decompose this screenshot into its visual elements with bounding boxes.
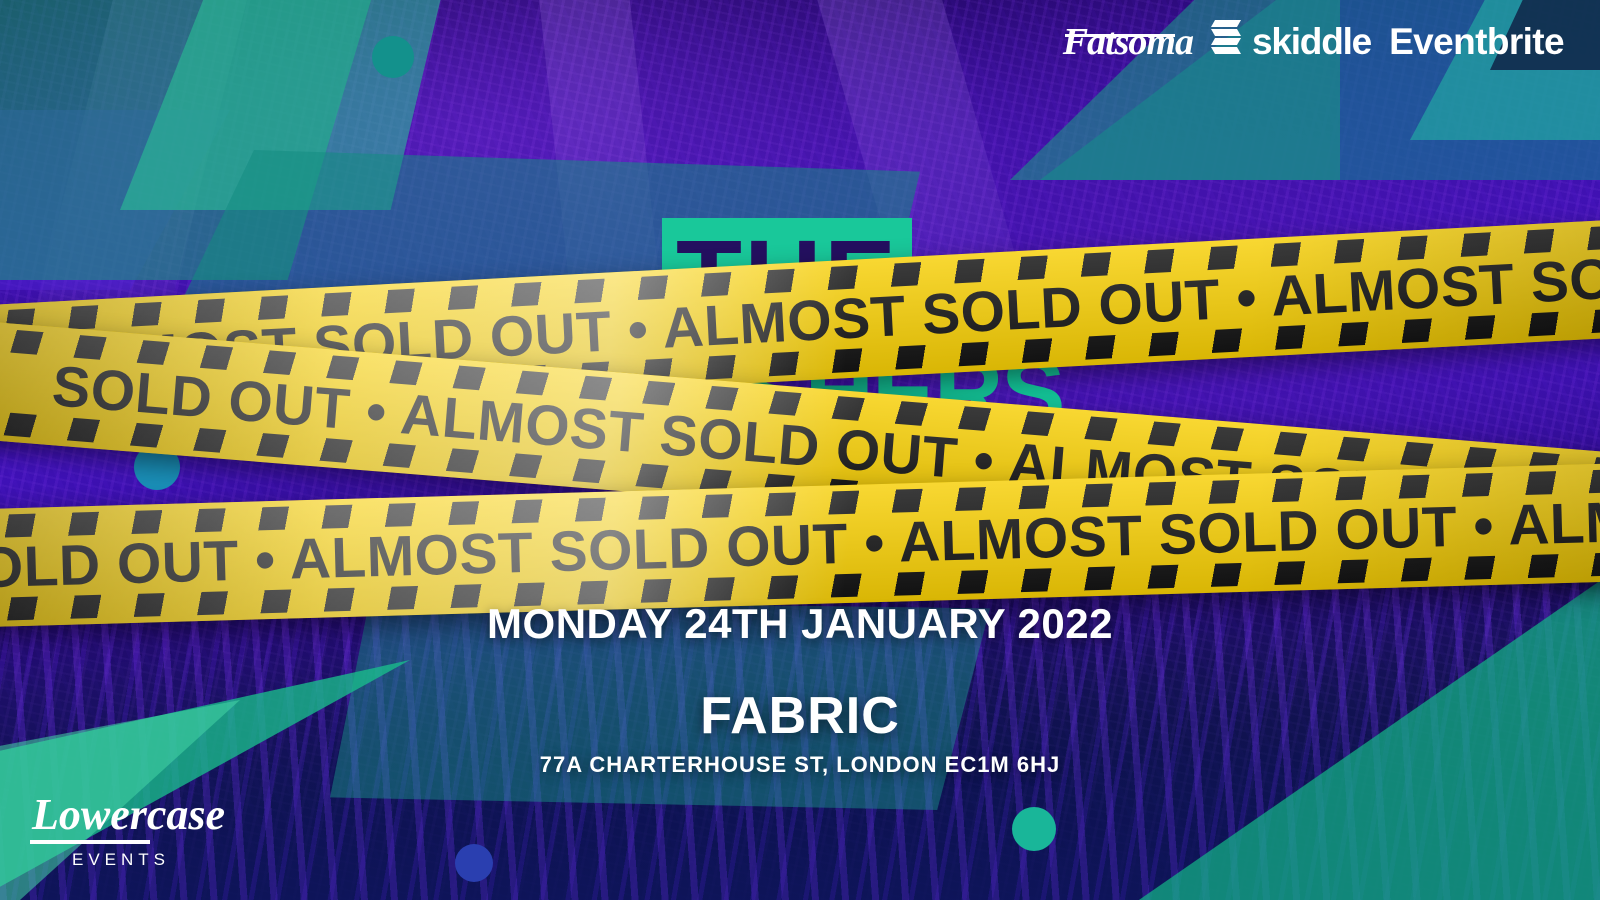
organiser-name: Lowercase [26, 789, 231, 846]
ticket-platform-logos: Fatsoma skiddle Eventbrite [1063, 18, 1564, 65]
event-poster: THE BALL FRESHERS OUT • ALMOST SOLD OUT … [0, 0, 1600, 900]
organiser-logo[interactable]: Lowercase EVENTS [26, 789, 216, 870]
event-details: MONDAY 24TH JANUARY 2022 FABRIC 77A CHAR… [0, 600, 1600, 778]
skiddle-wordmark: skiddle [1252, 21, 1371, 63]
eventbrite-logo[interactable]: Eventbrite [1389, 21, 1564, 63]
circle-bottom-left [455, 844, 493, 882]
event-address: 77A CHARTERHOUSE ST, LONDON EC1M 6HJ [0, 752, 1600, 778]
event-date: MONDAY 24TH JANUARY 2022 [0, 600, 1600, 648]
circle-top-left [372, 36, 414, 78]
event-venue: FABRIC [0, 686, 1600, 746]
organiser-subtitle: EVENTS [26, 850, 216, 870]
skiddle-mark-icon [1211, 18, 1245, 65]
skiddle-logo[interactable]: skiddle [1211, 18, 1371, 65]
circle-bottom-mid [1012, 807, 1056, 851]
fatsoma-logo[interactable]: Fatsoma [1063, 20, 1193, 64]
